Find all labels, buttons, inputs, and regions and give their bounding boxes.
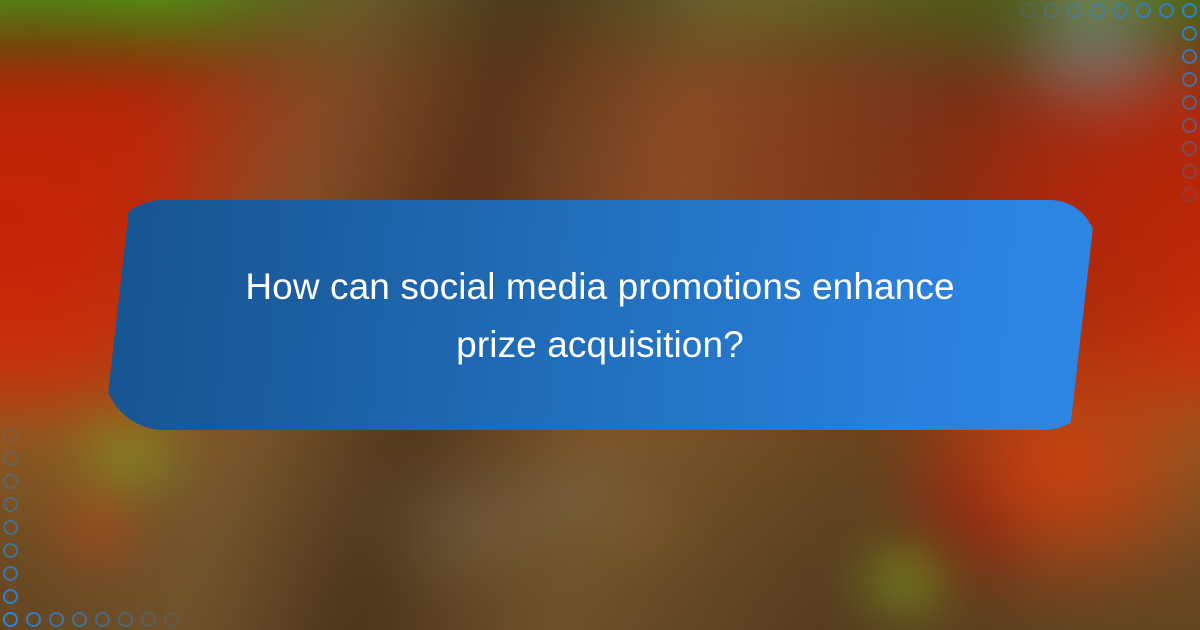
decorative-dot	[3, 497, 18, 512]
decorative-dot	[1182, 141, 1197, 156]
decorative-dot	[1182, 187, 1197, 202]
question-line-2: prize acquisition?	[456, 324, 744, 365]
decorative-dot	[3, 566, 18, 581]
decorative-dot	[26, 612, 41, 627]
decorative-dot	[1182, 118, 1197, 133]
decorative-dot	[3, 589, 18, 604]
decorative-dot	[1182, 164, 1197, 179]
decorative-dot	[3, 474, 18, 489]
decorative-dot	[3, 428, 18, 443]
decorative-dot	[1182, 95, 1197, 110]
decorative-dot	[49, 612, 64, 627]
decorative-dot	[1067, 3, 1082, 18]
decorative-dot	[3, 520, 18, 535]
screenshot-canvas: How can social media promotions enhance …	[0, 0, 1200, 630]
decorative-dot	[3, 612, 18, 627]
decorative-dot	[1136, 3, 1151, 18]
decorative-dot	[1090, 3, 1105, 18]
question-line-1: How can social media promotions enhance	[245, 266, 954, 307]
decorative-dot	[1182, 3, 1197, 18]
decorative-dot	[118, 612, 133, 627]
decorative-dot	[95, 612, 110, 627]
question-text: How can social media promotions enhance …	[205, 258, 994, 373]
decorative-dot	[1182, 26, 1197, 41]
decorative-dot	[1021, 3, 1036, 18]
question-banner: How can social media promotions enhance …	[104, 200, 1096, 430]
decorative-dot	[1182, 49, 1197, 64]
decorative-dot	[1159, 3, 1174, 18]
decorative-dot	[164, 612, 179, 627]
decorative-dot	[1113, 3, 1128, 18]
decorative-dot	[3, 451, 18, 466]
decorative-dot	[72, 612, 87, 627]
decorative-dot	[1182, 72, 1197, 87]
decorative-dot	[141, 612, 156, 627]
decorative-dot	[1044, 3, 1059, 18]
decorative-dot	[3, 543, 18, 558]
